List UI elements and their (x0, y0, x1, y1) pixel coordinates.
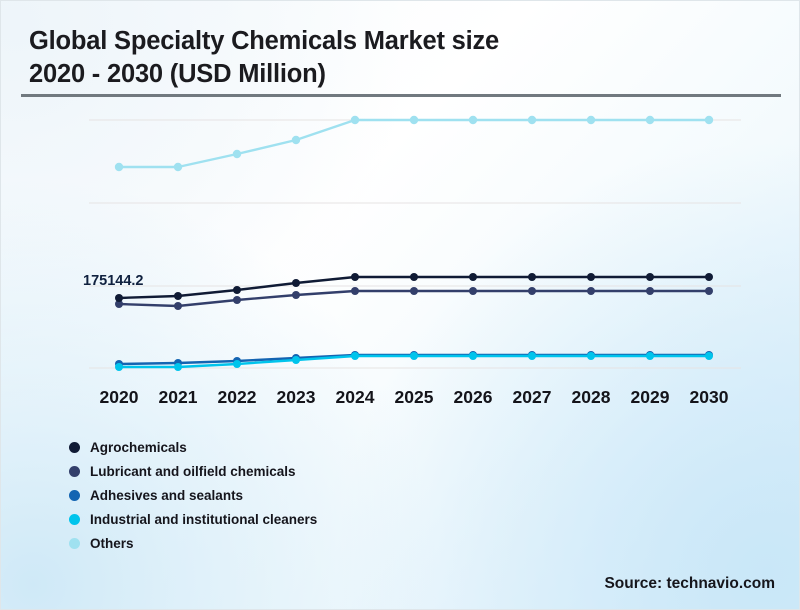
legend-item-label: Others (90, 536, 134, 551)
data-point[interactable] (528, 352, 536, 360)
data-point[interactable] (233, 360, 241, 368)
legend-item-label: Lubricant and oilfield chemicals (90, 464, 296, 479)
legend-marker-icon (69, 490, 80, 501)
x-axis-tick-2027: 2027 (513, 387, 552, 408)
x-axis-tick-2024: 2024 (336, 387, 375, 408)
data-point[interactable] (115, 163, 123, 171)
legend-marker-icon (69, 538, 80, 549)
series-others (115, 116, 713, 171)
data-point[interactable] (469, 352, 477, 360)
data-point[interactable] (292, 291, 300, 299)
data-point[interactable] (587, 273, 595, 281)
x-axis-tick-2028: 2028 (572, 387, 611, 408)
data-point[interactable] (174, 363, 182, 371)
data-point[interactable] (705, 273, 713, 281)
legend-item-others[interactable]: Others (69, 531, 317, 555)
source-caption: Source: technavio.com (604, 575, 775, 593)
data-point[interactable] (469, 287, 477, 295)
data-point[interactable] (587, 352, 595, 360)
data-point[interactable] (410, 116, 418, 124)
data-point[interactable] (587, 116, 595, 124)
data-point[interactable] (351, 273, 359, 281)
data-point[interactable] (351, 287, 359, 295)
data-point[interactable] (646, 352, 654, 360)
x-axis-tick-2020: 2020 (100, 387, 139, 408)
legend-item-industrial-and-institutional-cleaners[interactable]: Industrial and institutional cleaners (69, 507, 317, 531)
data-point[interactable] (528, 273, 536, 281)
data-point[interactable] (115, 294, 123, 302)
title-divider (21, 94, 781, 97)
page-title: Global Specialty Chemicals Market size 2… (29, 25, 769, 90)
x-axis-tick-2029: 2029 (631, 387, 670, 408)
data-point[interactable] (410, 287, 418, 295)
legend-marker-icon (69, 442, 80, 453)
x-axis-tick-2023: 2023 (277, 387, 316, 408)
x-axis-tick-2021: 2021 (159, 387, 198, 408)
data-point[interactable] (646, 116, 654, 124)
data-label-agrochemicals-2020: 175144.2 (83, 273, 143, 289)
x-axis-labels: 2020202120222023202420252026202720282029… (1, 387, 800, 413)
data-point[interactable] (646, 287, 654, 295)
data-point[interactable] (646, 273, 654, 281)
legend-item-label: Industrial and institutional cleaners (90, 512, 317, 527)
x-axis-tick-2025: 2025 (395, 387, 434, 408)
data-point[interactable] (174, 292, 182, 300)
data-point[interactable] (528, 287, 536, 295)
series-line (119, 120, 709, 167)
data-point[interactable] (233, 296, 241, 304)
data-point[interactable] (587, 287, 595, 295)
x-axis-tick-2030: 2030 (690, 387, 729, 408)
data-point[interactable] (233, 150, 241, 158)
data-point[interactable] (351, 116, 359, 124)
legend-item-label: Agrochemicals (90, 440, 187, 455)
series-lubricant-and-oilfield-chemicals (115, 287, 713, 310)
legend-item-lubricant-and-oilfield-chemicals[interactable]: Lubricant and oilfield chemicals (69, 459, 317, 483)
data-point[interactable] (174, 302, 182, 310)
legend-item-label: Adhesives and sealants (90, 488, 243, 503)
x-axis-tick-2026: 2026 (454, 387, 493, 408)
data-point[interactable] (469, 273, 477, 281)
data-point[interactable] (292, 279, 300, 287)
title-line-1: Global Specialty Chemicals Market size (29, 27, 499, 55)
data-point[interactable] (233, 286, 241, 294)
data-point[interactable] (528, 116, 536, 124)
data-point[interactable] (469, 116, 477, 124)
x-axis-tick-2022: 2022 (218, 387, 257, 408)
data-point[interactable] (410, 352, 418, 360)
chart-legend: AgrochemicalsLubricant and oilfield chem… (69, 435, 317, 555)
data-point[interactable] (292, 356, 300, 364)
data-point[interactable] (705, 352, 713, 360)
legend-marker-icon (69, 466, 80, 477)
line-chart (1, 101, 800, 411)
chart-page: Global Specialty Chemicals Market size 2… (0, 0, 800, 610)
data-point[interactable] (410, 273, 418, 281)
legend-item-adhesives-and-sealants[interactable]: Adhesives and sealants (69, 483, 317, 507)
data-point[interactable] (115, 363, 123, 371)
data-point[interactable] (174, 163, 182, 171)
legend-marker-icon (69, 514, 80, 525)
data-point[interactable] (705, 116, 713, 124)
legend-item-agrochemicals[interactable]: Agrochemicals (69, 435, 317, 459)
title-line-2: 2020 - 2030 (USD Million) (29, 58, 769, 91)
data-point[interactable] (292, 136, 300, 144)
data-point[interactable] (705, 287, 713, 295)
data-point[interactable] (351, 352, 359, 360)
